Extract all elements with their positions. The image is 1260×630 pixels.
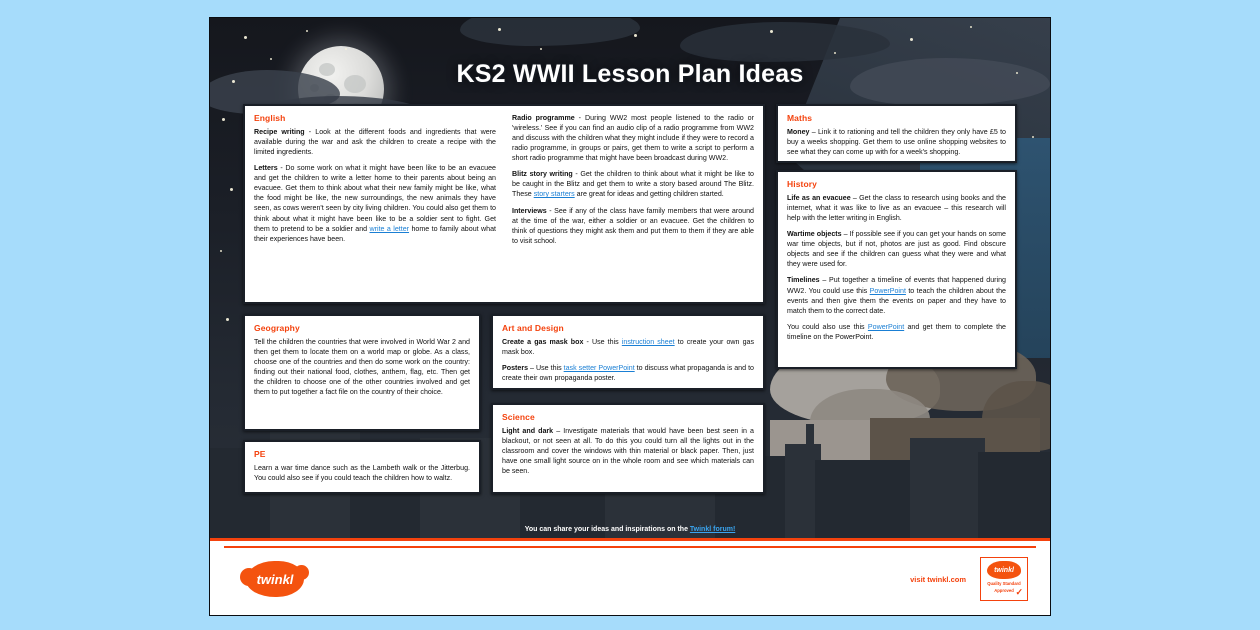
badge-line-1: Quality Standard [981,581,1027,586]
share-text: You can share your ideas and inspiration… [525,526,690,533]
panel-category-history: History [787,179,1006,189]
poster: KS2 WWII Lesson Plan Ideas English Recip… [210,18,1050,615]
paragraph-gas-mask-box: Create a gas mask box - Use this instruc… [502,337,754,357]
paragraph-money: Money – Link it to rationing and tell th… [787,127,1006,157]
visit-url[interactable]: visit twinkl.com [910,575,966,584]
panel-art-and-design: Art and Design Create a gas mask box - U… [491,314,765,390]
content-area: English Recipe writing - Look at the dif… [210,18,1050,556]
check-icon: ✓ [1015,587,1023,598]
panel-category-art: Art and Design [502,323,754,333]
panel-pe: PE Learn a war time dance such as the La… [243,440,481,494]
link-write-a-letter[interactable]: write a letter [370,225,410,233]
paragraph-radio-programme: Radio programme - During WW2 most people… [512,113,754,163]
screen: KS2 WWII Lesson Plan Ideas English Recip… [0,0,1260,630]
paragraph-recipe-writing: Recipe writing - Look at the different f… [254,127,496,157]
paragraph-timelines: Timelines – Put together a timeline of e… [787,275,1006,315]
panel-science: Science Light and dark – Investigate mat… [491,403,765,494]
quality-standard-badge: twinkl Quality Standard Approved ✓ [980,557,1028,601]
panel-english: English Recipe writing - Look at the dif… [243,104,765,304]
paragraph-blitz-story-writing: Blitz story writing - Get the children t… [512,169,754,199]
link-powerpoint-complete[interactable]: PowerPoint [868,323,904,331]
panel-geography: Geography Tell the children the countrie… [243,314,481,431]
panel-category-geography: Geography [254,323,470,333]
panel-maths: Maths Money – Link it to rationing and t… [776,104,1017,163]
paragraph-light-and-dark: Light and dark – Investigate materials t… [502,426,754,476]
link-twinkl-forum[interactable]: Twinkl forum! [690,526,735,533]
share-line: You can share your ideas and inspiration… [210,526,1050,533]
paragraph-pe: Learn a war time dance such as the Lambe… [254,463,470,483]
paragraph-geography: Tell the children the countries that wer… [254,337,470,397]
link-instruction-sheet[interactable]: instruction sheet [622,338,675,346]
paragraph-letters: Letters - Do some work on what it might … [254,163,496,244]
panel-category-pe: PE [254,449,470,459]
twinkl-logo[interactable]: twinkl [246,561,304,597]
twinkl-logo-text: twinkl [257,572,294,587]
page-title: KS2 WWII Lesson Plan Ideas [210,60,1050,89]
link-task-setter-powerpoint[interactable]: task setter PowerPoint [564,364,635,372]
paragraph-life-as-an-evacuee: Life as an evacuee – Get the class to re… [787,193,1006,223]
paragraph-wartime-objects: Wartime objects – If possible see if you… [787,229,1006,269]
panel-category-english: English [254,113,496,123]
link-story-starters[interactable]: story starters [534,190,575,198]
paragraph-interviews: Interviews - See if any of the class hav… [512,206,754,246]
badge-logo-text: twinkl [987,561,1021,579]
panel-category-science: Science [502,412,754,422]
panel-history: History Life as an evacuee – Get the cla… [776,170,1017,369]
paragraph-posters: Posters – Use this task setter PowerPoin… [502,363,754,383]
link-powerpoint-timelines[interactable]: PowerPoint [870,287,906,295]
panel-category-maths: Maths [787,113,1006,123]
paragraph-timeline-powerpoint: You could also use this PowerPoint and g… [787,322,1006,342]
